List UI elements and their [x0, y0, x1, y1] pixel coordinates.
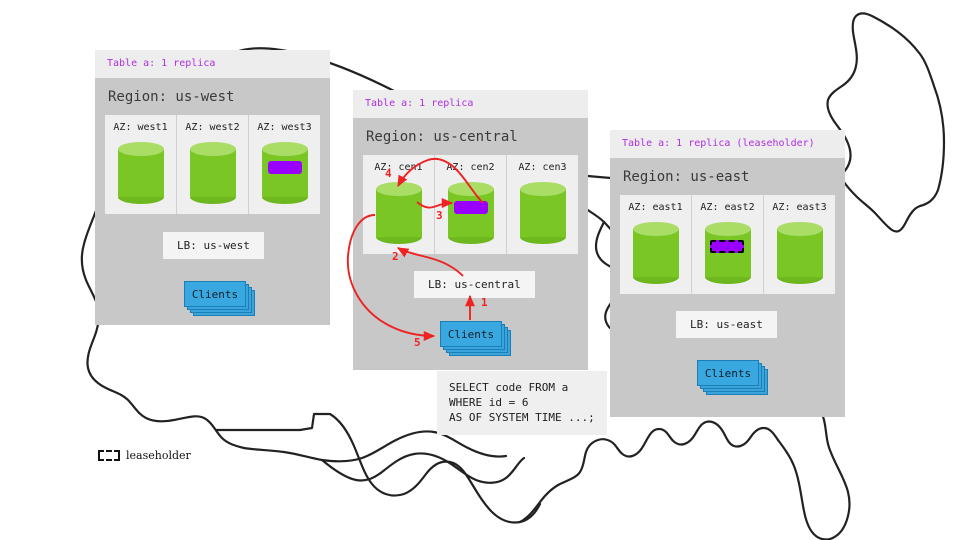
range-replica-west3: [268, 161, 302, 174]
leaseholder-swatch-icon: [98, 450, 120, 461]
az-row: AZ: cen1 AZ: cen2 AZ: cen3: [363, 155, 578, 254]
cylinder-top: [520, 182, 566, 196]
az-panel-west3[interactable]: AZ: west3: [248, 115, 320, 214]
cylinder-body: [118, 149, 164, 197]
region-table-title: Table a: 1 replica: [95, 50, 330, 78]
sql-query-note: SELECT code FROM a WHERE id = 6 AS OF SY…: [437, 371, 607, 435]
az-panel-east2[interactable]: AZ: east2: [691, 195, 763, 294]
az-panel-cen1[interactable]: AZ: cen1: [363, 155, 434, 254]
az-panel-west1[interactable]: AZ: west1: [105, 115, 176, 214]
az-panel-cen2[interactable]: AZ: cen2: [434, 155, 506, 254]
flow-step-number-5: 5: [414, 336, 421, 349]
cylinder-top: [777, 222, 823, 236]
clients-us-central[interactable]: Clients: [440, 321, 502, 347]
region-label: Region: us-east: [610, 158, 845, 195]
cylinder-top: [118, 142, 164, 156]
range-leaseholder-east2: [710, 240, 744, 253]
cylinder-top: [448, 182, 494, 196]
node-cylinder-east2[interactable]: [705, 222, 751, 284]
cylinder-body: [190, 149, 236, 197]
node-cylinder-cen2[interactable]: [448, 182, 494, 244]
az-panel-west2[interactable]: AZ: west2: [176, 115, 248, 214]
az-label: AZ: cen3: [507, 162, 578, 173]
load-balancer-us-west[interactable]: LB: us-west: [163, 232, 264, 259]
clients-label: Clients: [184, 281, 246, 307]
clients-label: Clients: [440, 321, 502, 347]
cylinder-body: [520, 189, 566, 237]
diagram-canvas: Table a: 1 replica Region: us-west AZ: w…: [0, 0, 960, 540]
region-label: Region: us-central: [353, 118, 588, 155]
cylinder-body: [376, 189, 422, 237]
region-label: Region: us-west: [95, 78, 330, 115]
flow-step-number-4: 4: [385, 167, 392, 180]
range-replica-cen2: [454, 201, 488, 214]
clients-label: Clients: [697, 360, 759, 386]
node-cylinder-cen1[interactable]: [376, 182, 422, 244]
az-label: AZ: west3: [249, 122, 320, 133]
node-cylinder-west3[interactable]: [262, 142, 308, 204]
legend: leaseholder: [98, 449, 191, 462]
az-label: AZ: cen2: [435, 162, 506, 173]
load-balancer-us-east[interactable]: LB: us-east: [676, 311, 777, 338]
cylinder-top: [705, 222, 751, 236]
cylinder-body: [705, 229, 751, 277]
node-cylinder-cen3[interactable]: [520, 182, 566, 244]
az-row: AZ: east1 AZ: east2 AZ: east3: [620, 195, 835, 294]
cylinder-body: [633, 229, 679, 277]
az-label: AZ: west1: [105, 122, 176, 133]
az-panel-east3[interactable]: AZ: east3: [763, 195, 835, 294]
az-panel-cen3[interactable]: AZ: cen3: [506, 155, 578, 254]
az-panel-east1[interactable]: AZ: east1: [620, 195, 691, 294]
az-label: AZ: cen1: [363, 162, 434, 173]
az-label: AZ: west2: [177, 122, 248, 133]
clients-us-west[interactable]: Clients: [184, 281, 246, 307]
legend-label: leaseholder: [126, 449, 191, 462]
az-label: AZ: east1: [620, 202, 691, 213]
flow-step-number-2: 2: [392, 250, 399, 263]
node-cylinder-west1[interactable]: [118, 142, 164, 204]
cylinder-top: [190, 142, 236, 156]
flow-step-number-1: 1: [481, 296, 488, 309]
az-label: AZ: east2: [692, 202, 763, 213]
flow-step-number-3: 3: [436, 209, 443, 222]
region-table-title: Table a: 1 replica: [353, 90, 588, 118]
cylinder-top: [262, 142, 308, 156]
region-table-title: Table a: 1 replica (leaseholder): [610, 130, 845, 158]
node-cylinder-east3[interactable]: [777, 222, 823, 284]
az-row: AZ: west1 AZ: west2 AZ: west3: [105, 115, 320, 214]
cylinder-top: [376, 182, 422, 196]
az-label: AZ: east3: [764, 202, 835, 213]
node-cylinder-east1[interactable]: [633, 222, 679, 284]
node-cylinder-west2[interactable]: [190, 142, 236, 204]
load-balancer-us-central[interactable]: LB: us-central: [414, 271, 535, 298]
cylinder-top: [633, 222, 679, 236]
cylinder-body: [777, 229, 823, 277]
clients-us-east[interactable]: Clients: [697, 360, 759, 386]
